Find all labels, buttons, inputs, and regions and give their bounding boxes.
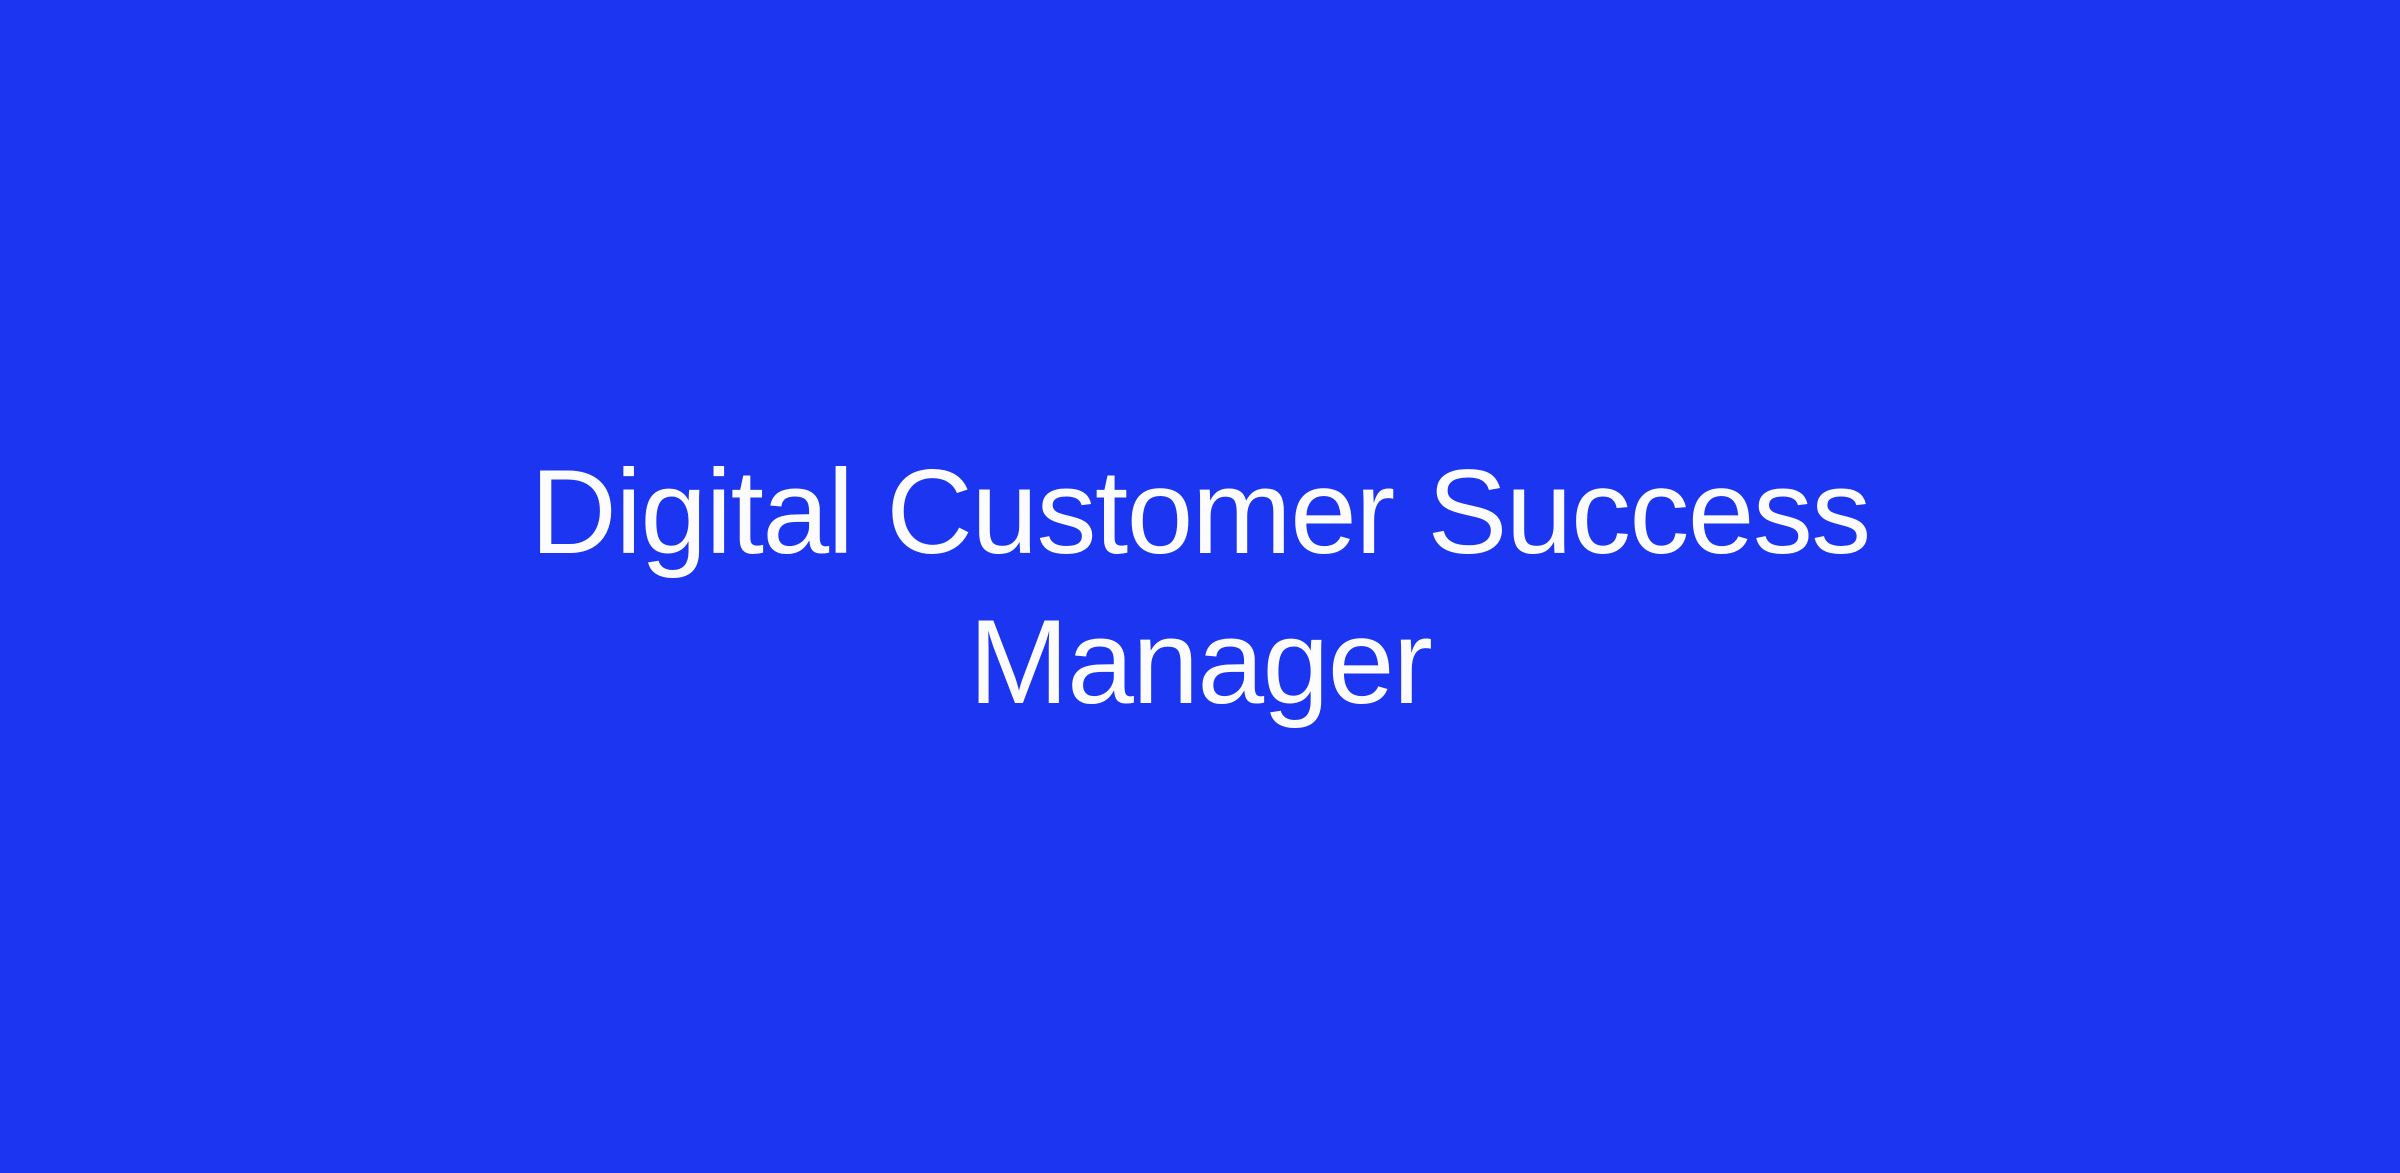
page-title: Digital Customer Success Manager	[490, 437, 1910, 737]
title-card: Digital Customer Success Manager	[0, 0, 2400, 1173]
title-block: Digital Customer Success Manager	[450, 437, 1950, 737]
